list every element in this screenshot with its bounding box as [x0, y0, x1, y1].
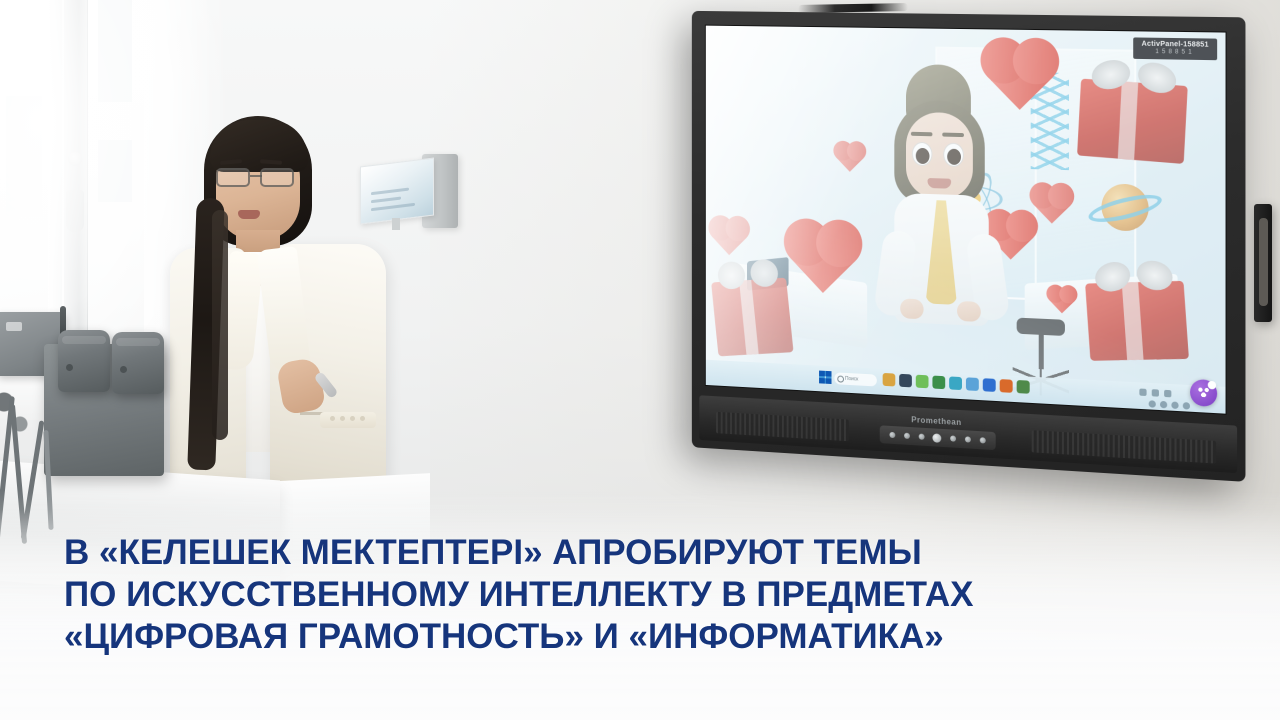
- avatar: [873, 63, 1011, 357]
- avatar-mouth: [928, 178, 952, 189]
- volume-up-button[interactable]: [965, 436, 971, 442]
- display-screen[interactable]: Поиск: [705, 25, 1227, 415]
- file-explorer-icon[interactable]: [883, 373, 896, 387]
- cuff-button: [360, 416, 365, 421]
- volume-down-button[interactable]: [950, 435, 956, 441]
- tray-icon[interactable]: [1183, 402, 1190, 410]
- input-button[interactable]: [979, 437, 985, 443]
- chair-pole: [1039, 333, 1044, 370]
- chat-icon[interactable]: [983, 378, 996, 392]
- cuff-button: [350, 416, 355, 421]
- monitor-logo: [6, 322, 22, 331]
- display-side-handle-cutout: [1259, 218, 1268, 306]
- settings-icon[interactable]: [966, 377, 979, 391]
- people-icon: [1197, 387, 1210, 397]
- headset-strap: [116, 338, 160, 346]
- glasses-icon: [214, 168, 300, 188]
- screenshot-root: Поиск: [0, 0, 1280, 720]
- browser-icon[interactable]: [899, 374, 912, 388]
- avatar-hand: [957, 301, 981, 322]
- tray-icon[interactable]: [1171, 401, 1178, 409]
- avatar-pupil: [916, 148, 930, 164]
- glasses-lens: [260, 168, 294, 187]
- gift-bow-icon: [717, 259, 780, 292]
- bow-lobe: [748, 256, 781, 290]
- activpanel-name-tag: ActivPanel-158851 158851: [1133, 37, 1217, 60]
- home-button[interactable]: [904, 433, 910, 439]
- windows-start-icon[interactable]: [819, 371, 831, 384]
- headline-line-3: «ЦИФРОВАЯ ГРАМОТНОСТЬ» И «ИНФОРМАТИКА»: [64, 616, 1224, 658]
- bow-lobe: [1134, 257, 1176, 295]
- media-icon[interactable]: [949, 376, 962, 390]
- notes-icon[interactable]: [1017, 380, 1030, 394]
- avatar-eyebrow: [911, 132, 933, 137]
- activpanel-code-label: 158851: [1142, 49, 1209, 56]
- display-bezel: Поиск: [692, 11, 1246, 482]
- gift-box-icon: [1084, 266, 1189, 362]
- blazer-cuff: [320, 412, 376, 428]
- cuff-button: [330, 416, 335, 421]
- headline-line-2: ПО ИСКУССТВЕННОМУ ИНТЕЛЛЕКТУ В ПРЕДМЕТАХ: [64, 574, 1224, 616]
- power-button[interactable]: [890, 432, 896, 438]
- avatar-pupil: [947, 149, 961, 165]
- bow-lobe: [1090, 257, 1134, 296]
- taskbar-system-tray[interactable]: [1139, 389, 1171, 398]
- tray-volume-icon[interactable]: [1152, 389, 1159, 397]
- tray-network-icon[interactable]: [1139, 389, 1146, 397]
- taskbar-app-icons[interactable]: [883, 373, 1030, 394]
- source-button[interactable]: [933, 433, 942, 443]
- presenter: [152, 112, 398, 516]
- avatar-eyebrow: [942, 133, 964, 138]
- participants-badge[interactable]: [1190, 379, 1217, 407]
- headline-line-1: В «КЕЛЕШЕК МЕКТЕПТЕРІ» АПРОБИРУЮТ ТЕМЫ: [64, 532, 1224, 574]
- avatar-hand: [900, 298, 923, 319]
- headset-lens: [66, 364, 73, 371]
- paint-icon[interactable]: [1000, 379, 1013, 393]
- gift-box-icon: [710, 264, 792, 343]
- headset-lens: [120, 366, 127, 373]
- screen-scene: Поиск: [706, 26, 1226, 414]
- menu-button[interactable]: [918, 434, 924, 440]
- tray-battery-icon[interactable]: [1164, 390, 1171, 398]
- tray-icon[interactable]: [1160, 401, 1167, 409]
- gift-box-icon: [1077, 64, 1189, 174]
- cuff-button: [340, 416, 345, 421]
- bow-lobe: [714, 257, 750, 293]
- gift-bow-icon: [1093, 261, 1174, 294]
- vr-headset-unit: [58, 330, 110, 392]
- search-input[interactable]: Поиск: [834, 372, 876, 386]
- glasses-bridge: [250, 175, 262, 177]
- interactive-display[interactable]: Поиск: [680, 14, 1250, 484]
- caption-overlay: В «КЕЛЕШЕК МЕКТЕПТЕРІ» АПРОБИРУЮТ ТЕМЫ П…: [0, 490, 1280, 720]
- presenter-hair-strand: [212, 210, 228, 440]
- notification-dot: [1208, 381, 1216, 390]
- taskbar-search-area[interactable]: Поиск: [819, 370, 877, 388]
- mail-icon[interactable]: [916, 375, 929, 389]
- headline: В «КЕЛЕШЕК МЕКТЕПТЕРІ» АПРОБИРУЮТ ТЕМЫ П…: [64, 532, 1224, 658]
- vr-headset-unit: [112, 332, 164, 394]
- tray-icon[interactable]: [1149, 400, 1156, 408]
- glasses-lens: [216, 168, 250, 187]
- bow-lobe: [1089, 56, 1134, 93]
- gift-bow-icon: [1091, 59, 1178, 96]
- headset-strap: [62, 336, 106, 344]
- activpanel-name-label: ActivPanel-158851: [1142, 41, 1209, 49]
- store-icon[interactable]: [932, 376, 945, 390]
- presenter-mouth: [238, 210, 260, 219]
